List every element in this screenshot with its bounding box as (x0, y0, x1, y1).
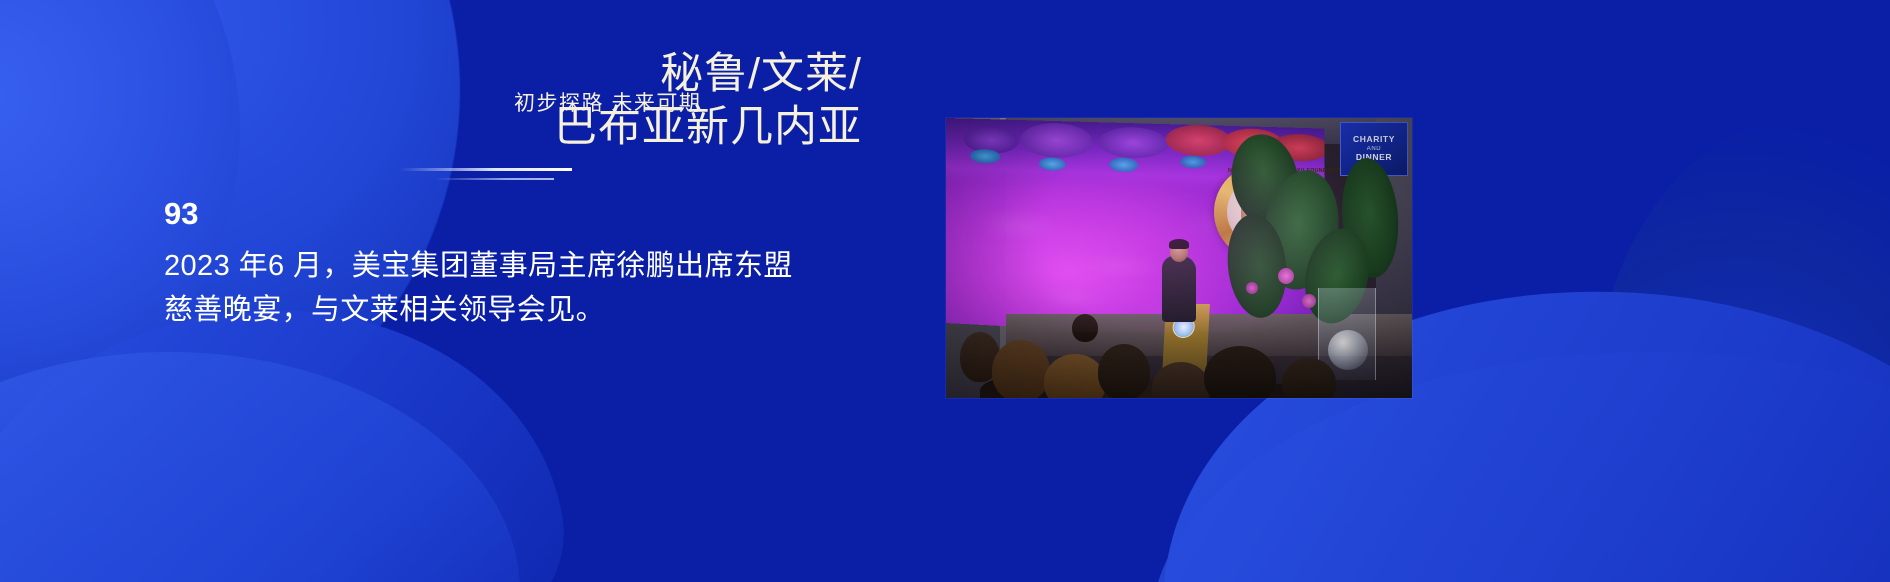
photo-plant-flower (1246, 282, 1258, 294)
photo-plant-flower (1302, 294, 1316, 308)
photo-audience-head (1072, 314, 1098, 342)
photo-plant-flower (1278, 268, 1294, 284)
title-underline-rule (400, 168, 572, 171)
slide-subtitle: 初步探路 未来可期 (514, 87, 701, 117)
photo-audience-head (1098, 344, 1150, 398)
slide-content: 秘鲁/文莱/ 巴布亚新几内亚 初步探路 未来可期 93 2023 年6 月，美宝… (162, 0, 922, 582)
photo-glass-ornament (1328, 330, 1368, 370)
placard-line-1: CHARITY (1353, 135, 1395, 145)
photo-speaker-body (1162, 256, 1196, 322)
slide-stat-number: 93 (164, 196, 198, 232)
photo-audience-head (992, 340, 1050, 398)
placard-line-2: AND (1367, 146, 1381, 153)
slide-body-text: 2023 年6 月，美宝集团董事局主席徐鹏出席东盟 慈善晚宴，与文莱相关领导会见… (164, 244, 864, 332)
title-underline-rule-2 (434, 178, 554, 180)
event-photograph: NATIONAL RONGXIANG XU FOUNDATION 美宝基金会 C… (946, 118, 1412, 398)
photo-speaker-hair (1169, 239, 1189, 249)
